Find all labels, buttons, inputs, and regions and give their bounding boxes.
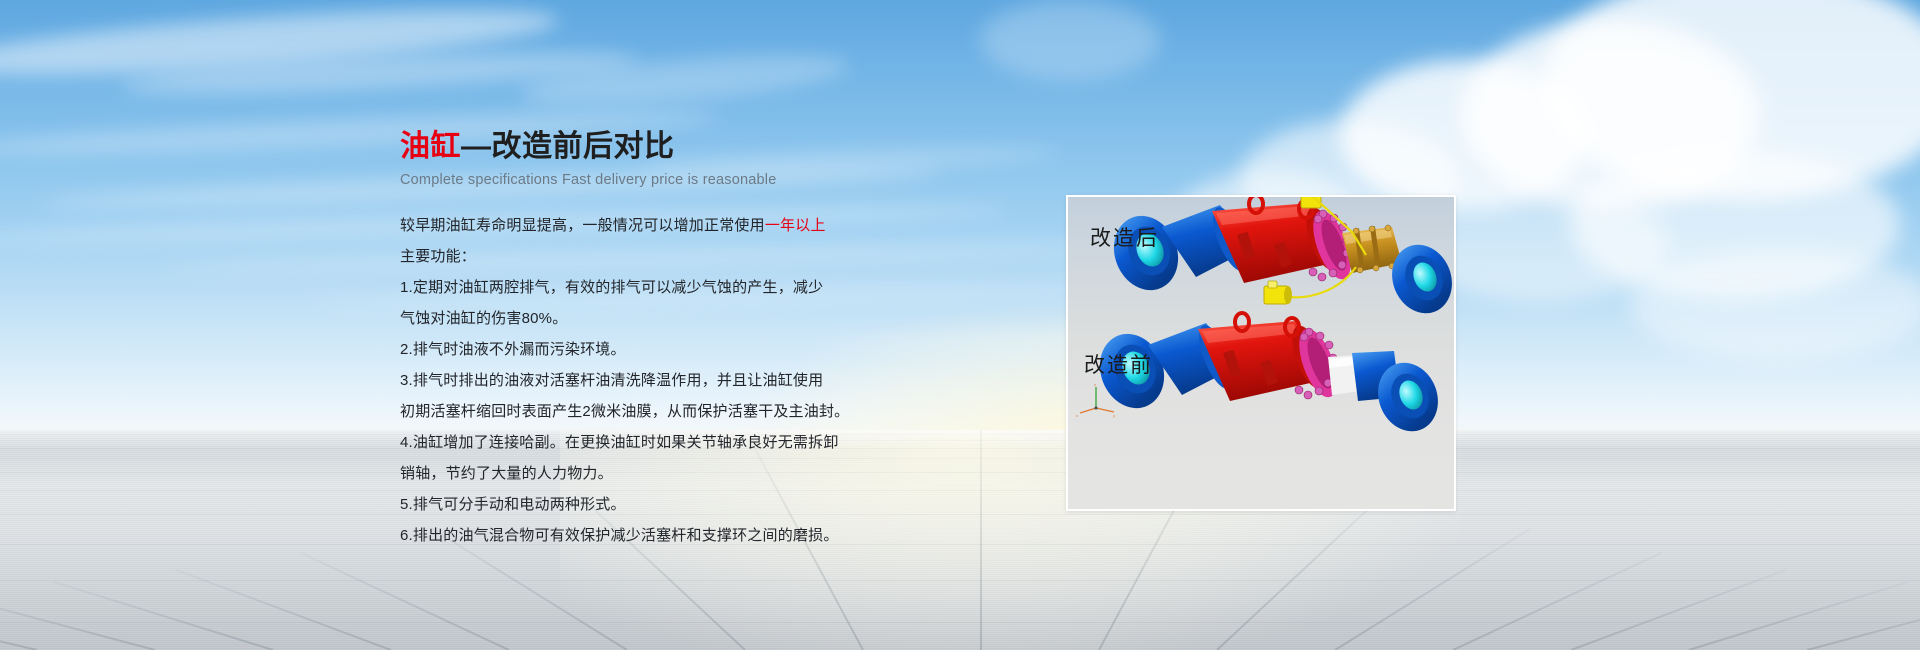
pavement-seam-horizontal <box>0 458 1920 459</box>
sky-background <box>0 0 1920 442</box>
feature-line: 2.排气时油液不外漏而污染环境。 <box>400 339 960 361</box>
feature-line-text: 5.排气可分手动和电动两种形式。 <box>400 496 626 513</box>
cumulus-cloud <box>980 0 1160 80</box>
feature-line-text: 3.排气时排出的油液对活塞杆油清洗降温作用，并且让油缸使用 <box>400 372 823 389</box>
pavement-seam-horizontal <box>0 490 1920 491</box>
feature-line: 初期活塞杆缩回时表面产生2微米油膜，从而保护活塞干及主油封。 <box>400 401 960 423</box>
pavement-ground <box>0 430 1920 650</box>
page-title: 油缸—改造前后对比 <box>400 131 960 163</box>
feature-line-accent: 一年以上 <box>765 217 826 234</box>
pavement-seam-horizontal <box>0 448 1920 449</box>
pavement-seam-horizontal <box>0 440 1920 441</box>
title-highlight: 油缸 <box>400 130 461 163</box>
axis-label-y: y <box>1113 413 1115 418</box>
feature-line: 5.排气可分手动和电动两种形式。 <box>400 494 960 516</box>
axis-label-x: x <box>1076 413 1078 418</box>
label-before: 改造前 <box>1084 349 1153 379</box>
feature-line: 4.油缸增加了连接哈副。在更换油缸时如果关节轴承良好无需拆卸 <box>400 432 960 454</box>
feature-line-text: 较早期油缸寿命明显提高，一般情况可以增加正常使用 <box>400 217 765 234</box>
rod-eye-left <box>1104 206 1189 300</box>
feature-line: 1.定期对油缸两腔排气，有效的排气可以减少气蚀的产生，减少 <box>400 277 960 299</box>
label-after: 改造后 <box>1090 222 1159 252</box>
cylinder-before-illustration <box>1088 305 1440 495</box>
pavement-seam-horizontal <box>0 434 1920 435</box>
hero-banner: 油缸—改造前后对比 Complete specifications Fast d… <box>0 0 1920 650</box>
feature-line-text: 销轴，节约了大量的人力物力。 <box>400 465 613 482</box>
pavement-seam-horizontal <box>0 544 1920 545</box>
feature-line: 6.排出的油气混合物可有效保护减少活塞杆和支撑环之间的磨损。 <box>400 525 960 547</box>
feature-line: 3.排气时排出的油液对活塞杆油清洗降温作用，并且让油缸使用 <box>400 370 960 392</box>
feature-line-text: 气蚀对油缸的伤害80%。 <box>400 310 567 327</box>
pavement-seam-horizontal <box>0 580 1920 581</box>
feature-list: 较早期油缸寿命明显提高，一般情况可以增加正常使用一年以上主要功能：1.定期对油缸… <box>400 215 960 547</box>
coordinate-axis-icon: z x y <box>1076 382 1118 422</box>
pavement-seam-radial <box>980 430 982 650</box>
title-rest: —改造前后对比 <box>461 130 675 163</box>
feature-line-text: 初期活塞杆缩回时表面产生2微米油膜，从而保护活塞干及主油封。 <box>400 403 849 420</box>
feature-line: 较早期油缸寿命明显提高，一般情况可以增加正常使用一年以上 <box>400 215 960 237</box>
feature-line-text: 4.油缸增加了连接哈副。在更换油缸时如果关节轴承良好无需拆卸 <box>400 434 839 451</box>
feature-line: 主要功能： <box>400 246 960 268</box>
feature-line-text: 主要功能： <box>400 248 476 265</box>
feature-line: 气蚀对油缸的伤害80%。 <box>400 308 960 330</box>
pavement-seam-horizontal <box>0 472 1920 473</box>
feature-line-text: 1.定期对油缸两腔排气，有效的排气可以减少气蚀的产生，减少 <box>400 279 823 296</box>
pavement-seam-horizontal <box>0 514 1920 515</box>
feature-line: 销轴，节约了大量的人力物力。 <box>400 463 960 485</box>
product-image-panel: 改造后 改造前 z x y <box>1066 195 1456 511</box>
vent-valve-body <box>1264 281 1292 304</box>
feature-line-text: 2.排气时油液不外漏而污染环境。 <box>400 341 626 358</box>
copy-block: 油缸—改造前后对比 Complete specifications Fast d… <box>400 131 960 556</box>
feature-line-text: 6.排出的油气混合物可有效保护减少活塞杆和支撑环之间的磨损。 <box>400 527 839 544</box>
page-subtitle: Complete specifications Fast delivery pr… <box>400 172 960 188</box>
axis-label-z: z <box>1094 382 1096 387</box>
pavement-seam-horizontal <box>0 622 1920 623</box>
